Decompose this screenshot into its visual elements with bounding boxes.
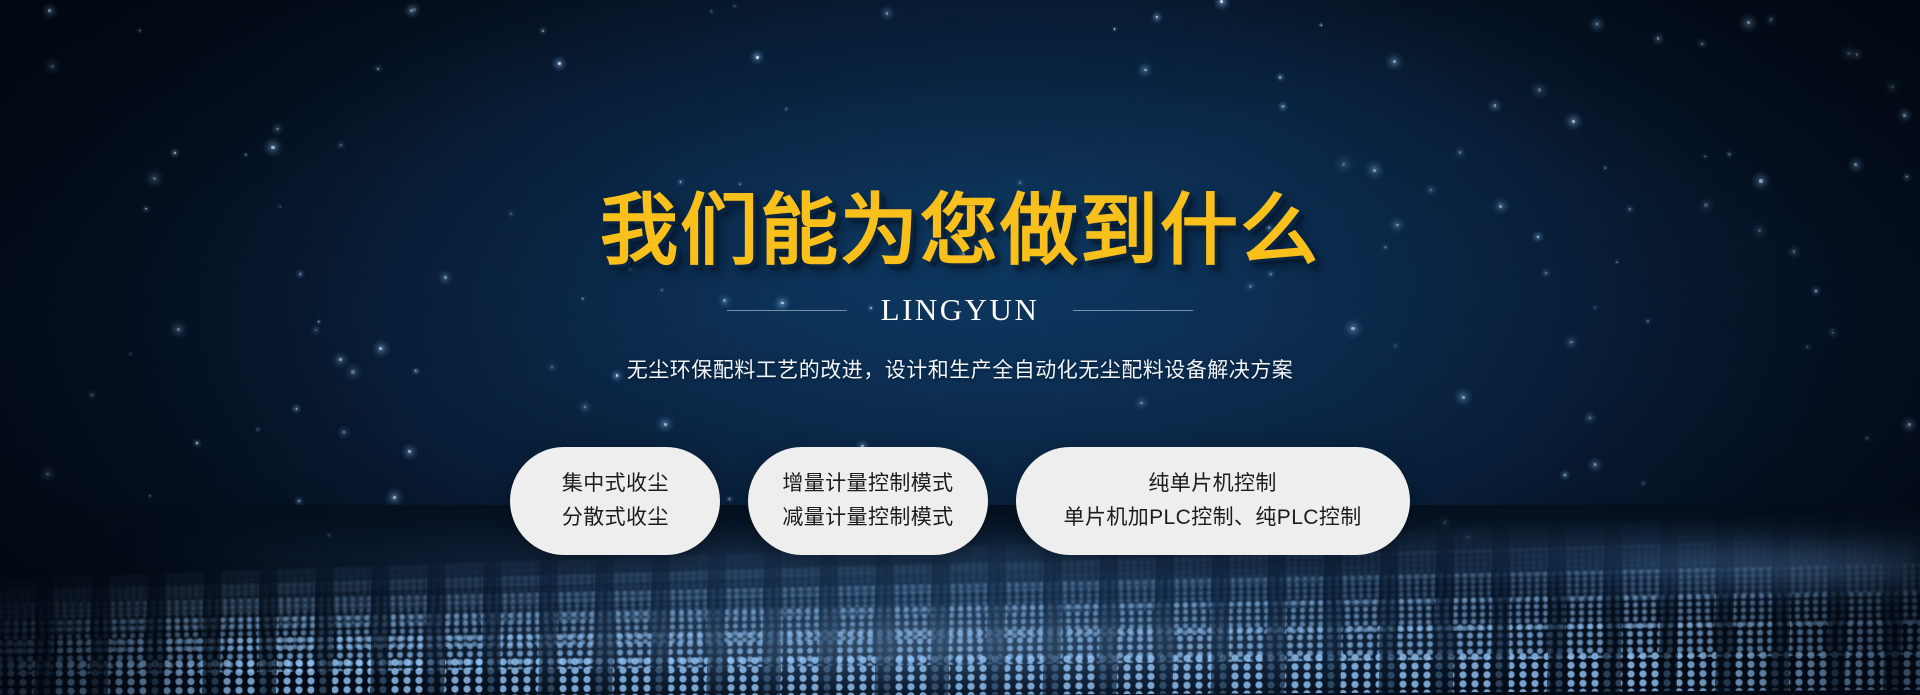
- pill-line: 分散式收尘: [562, 506, 669, 530]
- page-title: 我们能为您做到什么: [600, 192, 1320, 270]
- pill-line: 集中式收尘: [562, 472, 669, 496]
- pill-line: 纯单片机控制: [1148, 472, 1276, 496]
- feature-pill-controller-options[interactable]: 纯单片机控制单片机加PLC控制、纯PLC控制: [1016, 447, 1410, 555]
- page-description: 无尘环保配料工艺的改进，设计和生产全自动化无尘配料设备解决方案: [627, 354, 1294, 384]
- feature-pill-list: 集中式收尘分散式收尘增量计量控制模式减量计量控制模式纯单片机控制单片机加PLC控…: [510, 447, 1409, 555]
- pill-line: 增量计量控制模式: [782, 472, 953, 496]
- pill-line: 减量计量控制模式: [782, 506, 953, 530]
- banner-content: 我们能为您做到什么 LINGYUN 无尘环保配料工艺的改进，设计和生产全自动化无…: [0, 0, 1920, 695]
- hero-banner: 我们能为您做到什么 LINGYUN 无尘环保配料工艺的改进，设计和生产全自动化无…: [0, 0, 1920, 695]
- subtitle-row: LINGYUN: [727, 292, 1194, 328]
- divider-line-right: [1073, 310, 1193, 311]
- feature-pill-metering-control-mode[interactable]: 增量计量控制模式减量计量控制模式: [748, 447, 987, 555]
- brand-subtitle: LINGYUN: [881, 292, 1040, 328]
- feature-pill-dust-collection[interactable]: 集中式收尘分散式收尘: [510, 447, 720, 555]
- pill-line: 单片机加PLC控制、纯PLC控制: [1064, 506, 1362, 530]
- divider-line-left: [727, 310, 847, 311]
